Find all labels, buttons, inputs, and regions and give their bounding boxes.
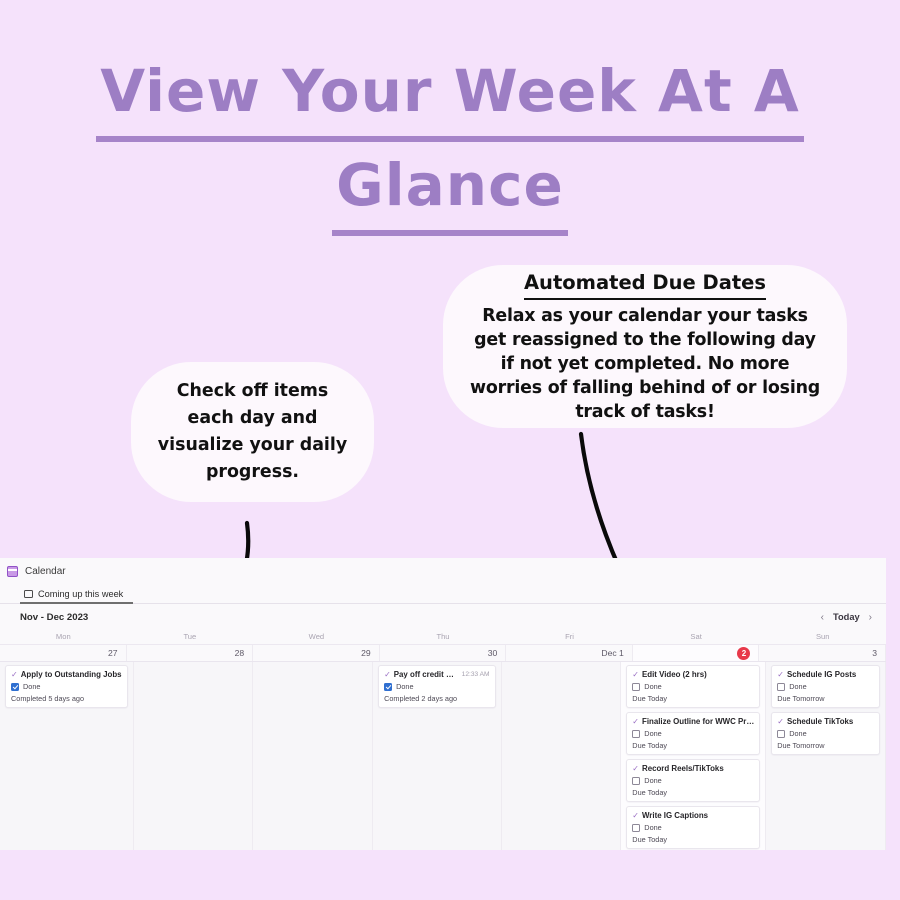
callout-automated-heading: Automated Due Dates	[524, 269, 766, 300]
done-checkbox[interactable]	[384, 683, 392, 691]
task-title-row: ✓Edit Video (2 hrs)	[632, 670, 754, 679]
task-card[interactable]: ✓Schedule TikToksDoneDue Tomorrow	[771, 712, 880, 755]
checkmark-icon: ✓	[632, 765, 639, 773]
task-title-row: ✓Schedule TikToks	[777, 717, 874, 726]
callout-check-body: Check off items each day and visualize y…	[153, 378, 352, 486]
task-title-row: ✓Pay off credit cards12:33 AM	[384, 670, 489, 679]
task-done-row: Done	[777, 729, 874, 738]
done-checkbox[interactable]	[632, 777, 640, 785]
day-number-row: 27282930Dec 123	[0, 645, 886, 662]
board-view-icon	[24, 590, 33, 598]
done-label: Done	[789, 729, 806, 738]
checkmark-icon: ✓	[777, 671, 784, 679]
week-columns: ✓Apply to Outstanding JobsDoneCompleted …	[0, 662, 886, 850]
view-tabbar: Coming up this week	[0, 582, 886, 604]
task-title-row: ✓Record Reels/TikToks	[632, 764, 754, 773]
done-checkbox[interactable]	[632, 730, 640, 738]
task-done-row: Done	[384, 682, 489, 691]
task-done-row: Done	[777, 682, 874, 691]
task-title: Schedule IG Posts	[787, 670, 874, 679]
day-number-cell[interactable]: Dec 1	[506, 645, 633, 661]
task-done-row: Done	[632, 729, 754, 738]
weekday-header-row: MonTueWedThuFriSatSun	[0, 630, 886, 645]
done-label: Done	[644, 729, 661, 738]
calendar-icon	[7, 566, 18, 577]
day-number: 27	[108, 648, 118, 658]
done-checkbox[interactable]	[777, 683, 785, 691]
day-number-cell[interactable]: 2	[633, 645, 760, 661]
tab-coming-up-this-week[interactable]: Coming up this week	[20, 589, 133, 604]
task-card[interactable]: ✓Record Reels/TikToksDoneDue Today	[626, 759, 760, 802]
task-due-status: Due Today	[632, 835, 754, 844]
task-title: Edit Video (2 hrs)	[642, 670, 754, 679]
day-number: 3	[872, 648, 877, 658]
next-week-button[interactable]: ›	[869, 612, 872, 623]
app-title: Calendar	[25, 566, 66, 577]
day-number: 30	[488, 648, 498, 658]
checkmark-icon: ✓	[777, 718, 784, 726]
done-checkbox[interactable]	[632, 824, 640, 832]
app-titlebar: Calendar	[0, 558, 886, 582]
task-title: Finalize Outline for WWC Pr…	[642, 717, 754, 726]
checkmark-icon: ✓	[384, 671, 391, 679]
done-checkbox[interactable]	[11, 683, 19, 691]
day-number-cell[interactable]: 30	[380, 645, 507, 661]
task-time: 12:33 AM	[459, 671, 490, 678]
day-column-tue[interactable]	[134, 662, 254, 850]
checkmark-icon: ✓	[632, 812, 639, 820]
weekday-label-wed: Wed	[253, 630, 380, 644]
day-column-thu[interactable]: ✓Pay off credit cards12:33 AMDoneComplet…	[373, 662, 501, 850]
checkmark-icon: ✓	[632, 718, 639, 726]
day-number-cell[interactable]: 29	[253, 645, 380, 661]
done-label: Done	[644, 823, 661, 832]
calendar-app-window: Calendar Coming up this week Nov - Dec 2…	[0, 558, 886, 850]
task-card[interactable]: ✓Apply to Outstanding JobsDoneCompleted …	[5, 665, 128, 708]
task-done-row: Done	[632, 776, 754, 785]
day-column-fri[interactable]	[502, 662, 622, 850]
task-card[interactable]: ✓Finalize Outline for WWC Pr…DoneDue Tod…	[626, 712, 760, 755]
today-button[interactable]: Today	[833, 612, 860, 622]
weekday-label-mon: Mon	[0, 630, 127, 644]
day-number-cell[interactable]: 27	[0, 645, 127, 661]
task-done-row: Done	[11, 682, 122, 691]
day-number: 28	[235, 648, 245, 658]
done-checkbox[interactable]	[777, 730, 785, 738]
day-number-cell[interactable]: 28	[127, 645, 254, 661]
callout-check-off-items: Check off items each day and visualize y…	[131, 362, 374, 502]
day-column-sun[interactable]: ✓Schedule IG PostsDoneDue Tomorrow✓Sched…	[766, 662, 886, 850]
task-title: Apply to Outstanding Jobs	[21, 670, 122, 679]
date-navigation-bar: Nov - Dec 2023 ‹ Today ›	[0, 604, 886, 630]
task-due-status: Due Tomorrow	[777, 741, 874, 750]
task-due-status: Due Today	[632, 788, 754, 797]
weekday-label-sat: Sat	[633, 630, 760, 644]
day-number-cell[interactable]: 3	[759, 645, 886, 661]
day-column-sat[interactable]: ✓Edit Video (2 hrs)DoneDue Today✓Finaliz…	[621, 662, 766, 850]
task-title-row: ✓Schedule IG Posts	[777, 670, 874, 679]
date-range-label: Nov - Dec 2023	[20, 612, 88, 623]
day-column-wed[interactable]	[253, 662, 373, 850]
done-label: Done	[644, 682, 661, 691]
task-due-status: Completed 2 days ago	[384, 694, 489, 703]
page-title-line-2: Glance	[332, 142, 568, 236]
task-title-row: ✓Apply to Outstanding Jobs	[11, 670, 122, 679]
task-title-row: ✓Write IG Captions	[632, 811, 754, 820]
task-title: Pay off credit cards	[394, 670, 456, 679]
task-title-row: ✓Finalize Outline for WWC Pr…	[632, 717, 754, 726]
weekday-label-thu: Thu	[380, 630, 507, 644]
task-done-row: Done	[632, 682, 754, 691]
checkmark-icon: ✓	[11, 671, 18, 679]
task-done-row: Done	[632, 823, 754, 832]
page-title: View Your Week At A Glance	[0, 48, 900, 236]
task-card[interactable]: ✓Write IG CaptionsDoneDue Today	[626, 806, 760, 849]
today-date-badge: 2	[737, 647, 750, 660]
day-column-mon[interactable]: ✓Apply to Outstanding JobsDoneCompleted …	[0, 662, 134, 850]
callout-automated-due-dates: Automated Due Dates Relax as your calend…	[443, 265, 847, 428]
task-due-status: Due Tomorrow	[777, 694, 874, 703]
task-title: Write IG Captions	[642, 811, 754, 820]
weekday-label-fri: Fri	[506, 630, 633, 644]
task-title: Record Reels/TikToks	[642, 764, 754, 773]
task-card[interactable]: ✓Schedule IG PostsDoneDue Tomorrow	[771, 665, 880, 708]
task-card[interactable]: ✓Pay off credit cards12:33 AMDoneComplet…	[378, 665, 495, 708]
done-label: Done	[644, 776, 661, 785]
weekday-label-tue: Tue	[127, 630, 254, 644]
day-number: Dec 1	[601, 648, 623, 658]
done-checkbox[interactable]	[632, 683, 640, 691]
weekday-label-sun: Sun	[759, 630, 886, 644]
done-label: Done	[789, 682, 806, 691]
task-due-status: Completed 5 days ago	[11, 694, 122, 703]
page-title-line-1: View Your Week At A	[96, 48, 804, 142]
callout-automated-body: Relax as your calendar your tasks get re…	[469, 304, 821, 424]
task-due-status: Due Today	[632, 694, 754, 703]
checkmark-icon: ✓	[632, 671, 639, 679]
done-label: Done	[23, 682, 40, 691]
task-card[interactable]: ✓Edit Video (2 hrs)DoneDue Today	[626, 665, 760, 708]
task-due-status: Due Today	[632, 741, 754, 750]
done-label: Done	[396, 682, 413, 691]
tab-label: Coming up this week	[38, 589, 123, 599]
day-number: 29	[361, 648, 371, 658]
task-title: Schedule TikToks	[787, 717, 874, 726]
nav-group: ‹ Today ›	[821, 612, 872, 623]
prev-week-button[interactable]: ‹	[821, 612, 824, 623]
